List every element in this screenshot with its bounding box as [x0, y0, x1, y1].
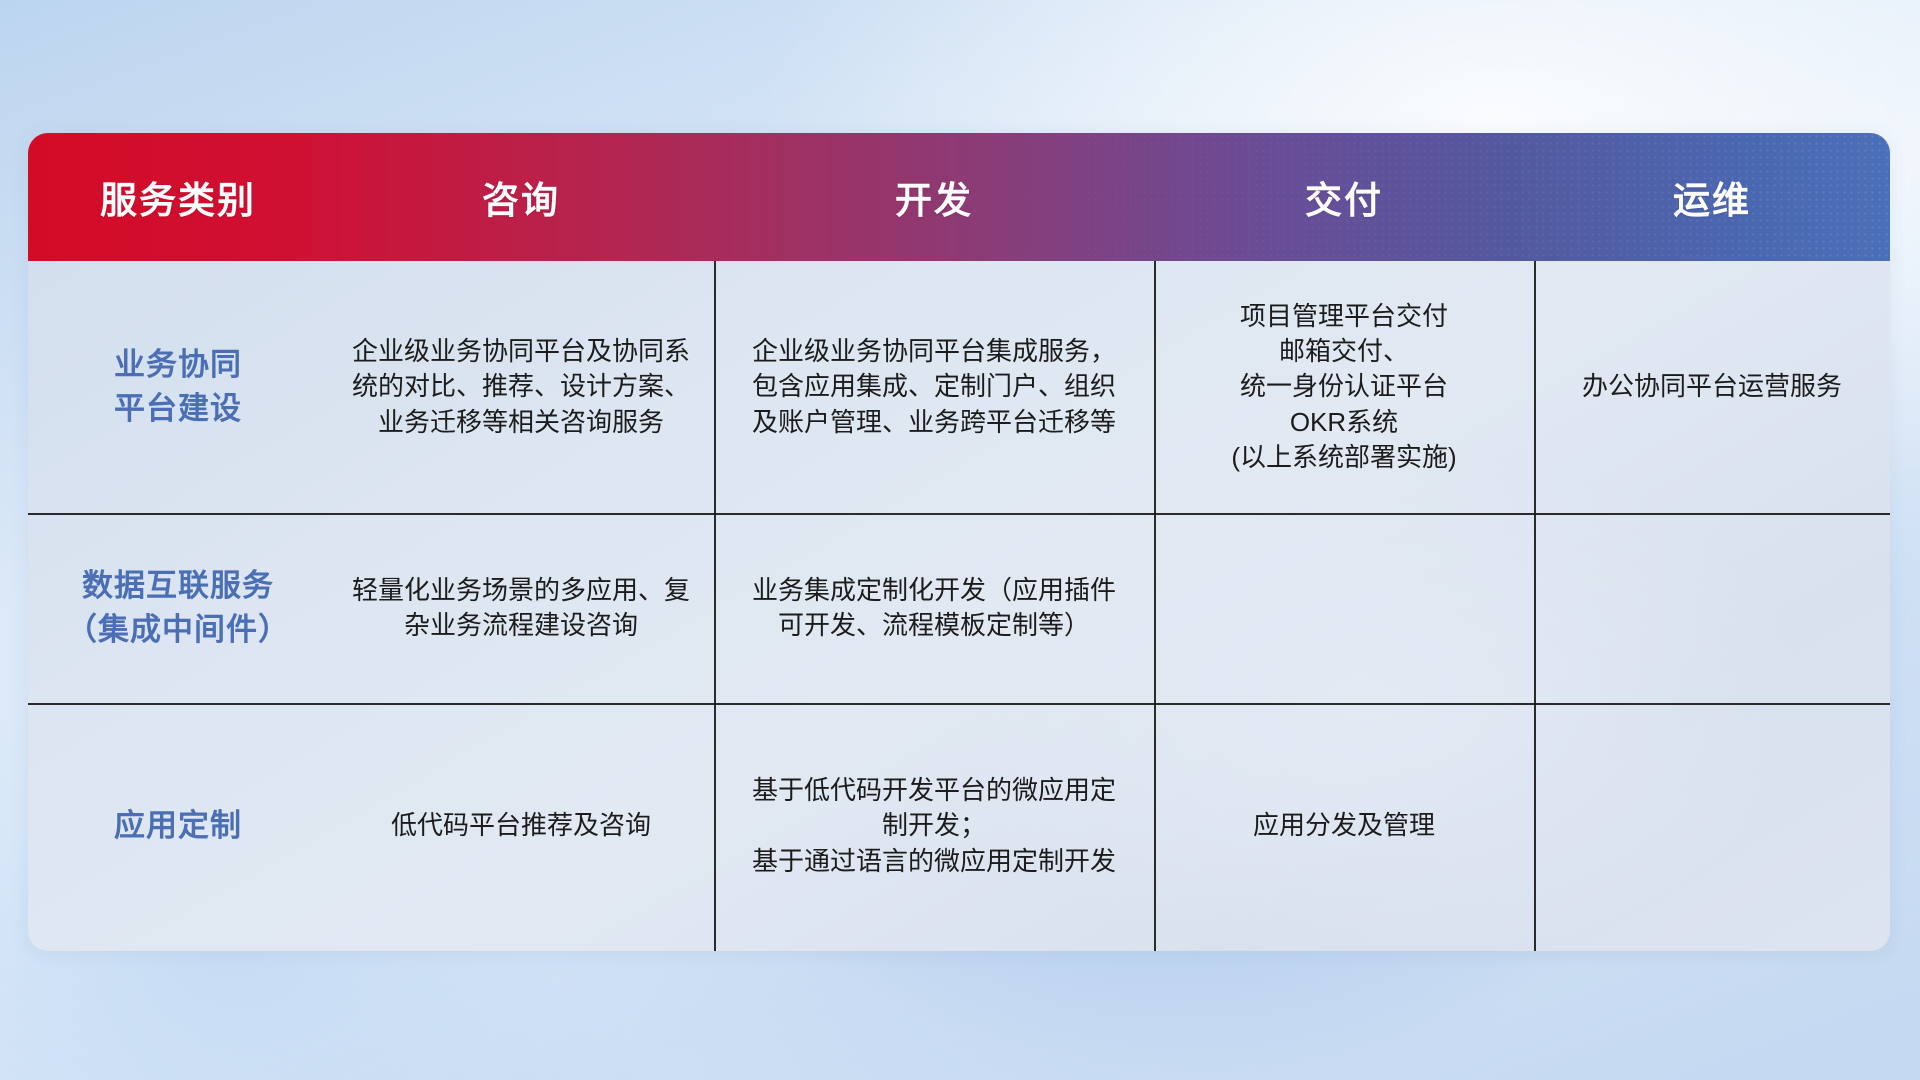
- cell-operations-row3: [1534, 703, 1890, 949]
- column-header-consulting: 咨询: [328, 170, 714, 224]
- services-matrix-table: 服务类别 咨询 开发 交付 运维 业务协同 平台建设 企业级业务协同平台及协同系…: [28, 133, 1890, 951]
- table-row: 业务协同 平台建设 企业级业务协同平台及协同系 统的对比、推荐、设计方案、 业务…: [28, 261, 1890, 513]
- table-body: 业务协同 平台建设 企业级业务协同平台及协同系 统的对比、推荐、设计方案、 业务…: [28, 261, 1890, 951]
- row-label-app-customization: 应用定制: [28, 703, 328, 949]
- column-header-delivery: 交付: [1154, 170, 1534, 224]
- cell-operations-row2: [1534, 513, 1890, 703]
- cell-consulting-row2: 轻量化业务场景的多应用、复 杂业务流程建设咨询: [328, 513, 714, 703]
- cell-development-row3: 基于低代码开发平台的微应用定 制开发； 基于通过语言的微应用定制开发: [714, 703, 1154, 949]
- cell-consulting-row1: 企业级业务协同平台及协同系 统的对比、推荐、设计方案、 业务迁移等相关咨询服务: [328, 261, 714, 513]
- cell-delivery-row1: 项目管理平台交付 邮箱交付、 统一身份认证平台 OKR系统 (以上系统部署实施): [1154, 261, 1534, 513]
- column-header-operations: 运维: [1534, 170, 1890, 224]
- cell-development-row1: 企业级业务协同平台集成服务， 包含应用集成、定制门户、组织 及账户管理、业务跨平…: [714, 261, 1154, 513]
- table-header-row: 服务类别 咨询 开发 交付 运维: [28, 133, 1890, 261]
- column-header-category: 服务类别: [28, 170, 328, 224]
- column-header-development: 开发: [714, 170, 1154, 224]
- cell-consulting-row3: 低代码平台推荐及咨询: [328, 703, 714, 949]
- cell-delivery-row2: [1154, 513, 1534, 703]
- table-row: 应用定制 低代码平台推荐及咨询 基于低代码开发平台的微应用定 制开发； 基于通过…: [28, 703, 1890, 949]
- row-label-business-collaboration: 业务协同 平台建设: [28, 261, 328, 513]
- table-row: 数据互联服务 （集成中间件） 轻量化业务场景的多应用、复 杂业务流程建设咨询 业…: [28, 513, 1890, 703]
- cell-operations-row1: 办公协同平台运营服务: [1534, 261, 1890, 513]
- cell-development-row2: 业务集成定制化开发（应用插件 可开发、流程模板定制等）: [714, 513, 1154, 703]
- row-label-data-interconnect: 数据互联服务 （集成中间件）: [28, 513, 328, 703]
- cell-delivery-row3: 应用分发及管理: [1154, 703, 1534, 949]
